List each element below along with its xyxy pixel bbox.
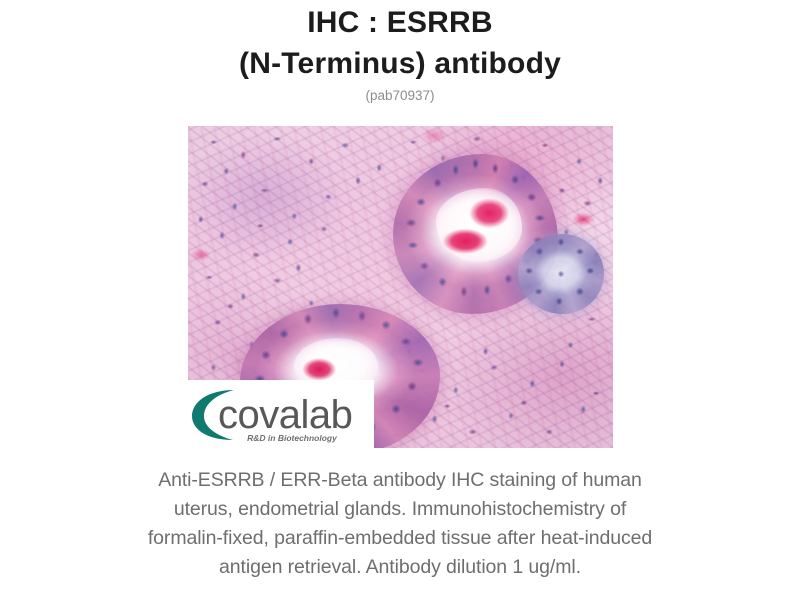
page-title-line-1: IHC : ESRRB — [0, 0, 800, 43]
covalab-watermark: covalab R&D in Biotechnology — [188, 380, 374, 448]
ihc-micrograph: covalab R&D in Biotechnology — [188, 126, 613, 448]
caption-line-1: Anti-ESRRB / ERR-Beta antibody IHC stain… — [60, 466, 740, 495]
caption-line-2: uterus, endometrial glands. Immunohistoc… — [60, 495, 740, 524]
title-block: IHC : ESRRB (N-Terminus) antibody (pab70… — [0, 0, 800, 105]
covalab-logo: covalab R&D in Biotechnology — [188, 380, 374, 448]
caption-line-3: formalin-fixed, paraffin-embedded tissue… — [60, 524, 740, 553]
covalab-tagline: R&D in Biotechnology — [247, 433, 338, 443]
page-title-line-2: (N-Terminus) antibody — [0, 43, 800, 84]
figure-page: IHC : ESRRB (N-Terminus) antibody (pab70… — [0, 0, 800, 600]
figure-caption: Anti-ESRRB / ERR-Beta antibody IHC stain… — [60, 466, 740, 582]
covalab-wordmark: covalab — [218, 393, 352, 437]
catalog-number: (pab70937) — [0, 84, 800, 105]
caption-line-4: antigen retrieval. Antibody dilution 1 u… — [60, 553, 740, 582]
